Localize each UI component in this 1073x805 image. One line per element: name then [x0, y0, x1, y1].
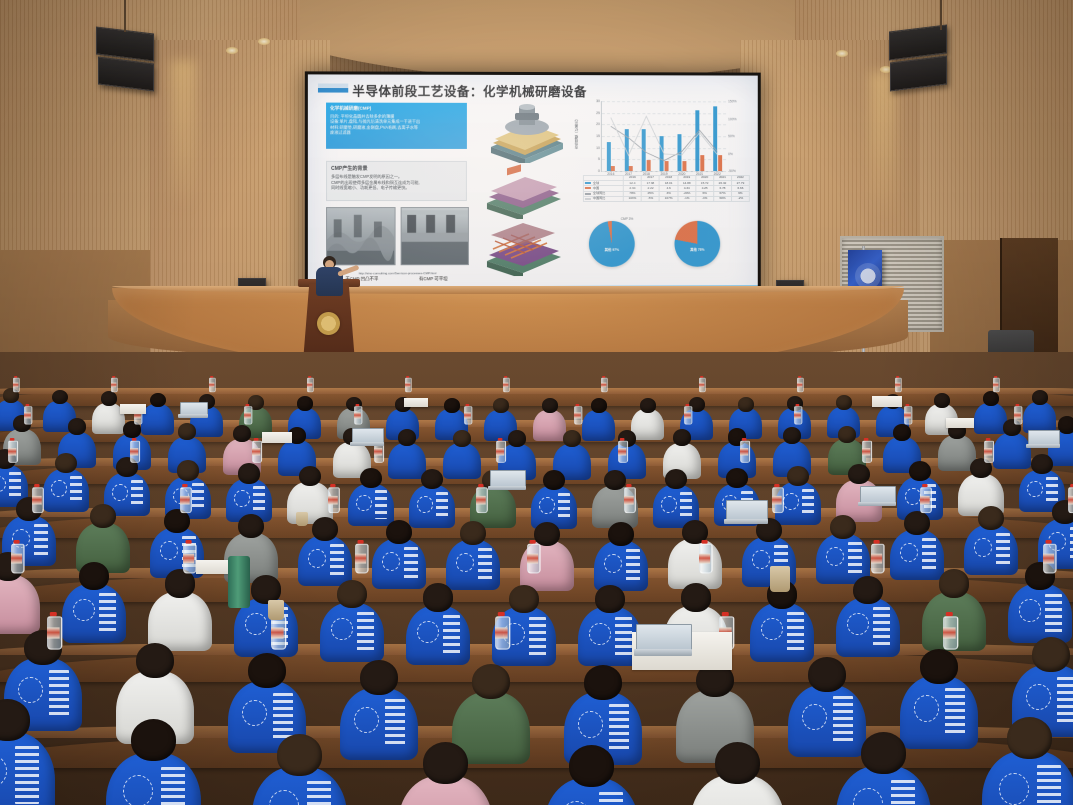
audience-head	[715, 742, 761, 784]
shirt-text-graphic	[70, 476, 82, 504]
shirt-gear-logo-icon	[73, 599, 94, 621]
chart-bar	[624, 129, 628, 171]
chart-bar	[647, 160, 651, 171]
audience-member	[982, 717, 1073, 805]
wall-wash-light	[170, 60, 196, 210]
audience-shirt	[750, 603, 814, 662]
chart-table-cell: -1%	[678, 196, 696, 201]
audience-head	[830, 515, 856, 539]
presenter	[312, 256, 348, 296]
audience-head	[248, 653, 286, 688]
shirt-gear-logo-icon	[604, 554, 622, 573]
shirt-gear-logo-icon	[0, 476, 6, 492]
paper-cup	[296, 512, 308, 526]
chart-bar-group	[607, 101, 616, 171]
shirt-gear-logo-icon	[456, 553, 474, 572]
chart-y2-tick: 0%	[728, 152, 733, 156]
wall-wash-light	[870, 72, 896, 222]
audience-head	[386, 520, 412, 544]
audience-head	[360, 660, 398, 695]
audience-head	[337, 580, 368, 608]
shirt-text-graphic	[161, 767, 186, 805]
laptop	[726, 500, 766, 524]
cmp-polisher-diagram	[477, 101, 567, 163]
audience-head	[920, 649, 958, 684]
audience-head	[165, 569, 196, 597]
chart-y2-tick: 150%	[728, 99, 737, 103]
pie-chart-cmp-share	[589, 221, 635, 267]
shirt-text-graphic	[1070, 527, 1073, 560]
audience-member	[531, 470, 577, 530]
shirt-gear-logo-icon	[123, 775, 153, 805]
shirt-gear-logo-icon	[752, 550, 770, 569]
chart-y-tick: 5	[598, 157, 600, 161]
audience-head	[543, 470, 565, 490]
paper-notebook	[404, 398, 428, 407]
audience-head	[421, 469, 443, 489]
shirt-text-graphic	[478, 548, 492, 581]
audience-head	[68, 418, 87, 435]
downlight	[226, 47, 238, 54]
audience-head	[738, 397, 754, 412]
audience-head	[101, 391, 117, 406]
speaker-cable	[124, 0, 126, 32]
chart-bar	[678, 135, 682, 172]
chart-legend-swatch	[585, 187, 591, 189]
audience-member	[0, 699, 55, 805]
audience-head	[640, 398, 656, 413]
shirt-gear-logo-icon	[999, 773, 1029, 805]
presentation-slide: 半导体前段工艺设备：化学机械研磨设备 化学机械研磨(CMP) 目的: 平坦化晶圆…	[308, 74, 758, 303]
shirt-text-graphic	[558, 493, 570, 521]
audience-head	[604, 470, 626, 490]
background-box-line: 同时线宽缩小、功耗更低、电子传输更快。	[331, 185, 462, 191]
shirt-gear-logo-icon	[578, 711, 603, 738]
audience-head	[983, 391, 999, 406]
audience-head	[978, 506, 1004, 530]
shirt-gear-logo-icon	[417, 496, 433, 512]
chart-plot-area: 051015202530-50%0%50%100%150%20162017201…	[601, 101, 726, 172]
cmp-3d-diagrams	[477, 101, 567, 276]
paper-notebook	[872, 396, 902, 407]
audience-head	[52, 390, 68, 405]
podium-emblem	[317, 312, 340, 335]
laptop	[352, 428, 382, 446]
audience-shirt	[320, 603, 384, 662]
audience-member	[544, 745, 639, 805]
chart-bar	[665, 161, 669, 171]
audience-head	[808, 657, 846, 692]
pie-main-label-right: 其他 78%	[677, 247, 717, 252]
chart-table-cell: 103%	[623, 196, 641, 201]
audience-head	[534, 522, 560, 546]
audience-head	[460, 521, 486, 545]
audience-head	[299, 466, 321, 486]
shirt-gear-logo-icon	[160, 541, 178, 560]
audience-member	[668, 520, 722, 590]
shirt-gear-logo-icon	[783, 493, 799, 509]
audience-head	[423, 742, 469, 784]
audience-head	[55, 453, 77, 473]
shirt-text-graphic	[357, 612, 374, 651]
audience-head	[233, 425, 252, 442]
audience-head	[131, 719, 177, 761]
chart-y-tick: 15	[596, 134, 600, 138]
shirt-text-graphic	[802, 489, 814, 517]
shirt-text-graphic	[529, 617, 546, 656]
shirt-text-graphic	[615, 617, 632, 656]
shirt-gear-logo-icon	[354, 707, 379, 734]
chart-bar	[682, 161, 686, 171]
shirt-gear-logo-icon	[826, 547, 844, 566]
shirt-text-graphic	[307, 781, 332, 805]
chart-series-label: 中国同比	[583, 196, 623, 201]
chart-table-cell: 60%	[714, 196, 732, 201]
chart-bar-group	[678, 101, 687, 171]
shirt-gear-logo-icon	[382, 552, 400, 571]
shirt-text-graphic	[375, 490, 387, 518]
audience-head	[595, 585, 626, 613]
audience-head	[853, 576, 884, 604]
shirt-text-graphic	[922, 538, 936, 571]
green-thermos	[228, 556, 250, 608]
shirt-gear-logo-icon	[234, 490, 250, 506]
audience-head	[136, 643, 174, 678]
chart-bar	[642, 129, 646, 171]
audience-head	[238, 514, 264, 538]
audience-head	[783, 427, 802, 444]
shirt-gear-logo-icon	[914, 695, 939, 722]
audience-head	[608, 522, 634, 546]
chart-y-tick: 20	[596, 122, 600, 126]
chart-y-tick: 25	[596, 111, 600, 115]
audience-head	[238, 463, 260, 483]
chart-y-tick: 10	[596, 146, 600, 150]
chart-legend-swatch	[585, 182, 591, 184]
shirt-gear-logo-icon	[974, 538, 992, 557]
shirt-text-graphic	[945, 688, 965, 736]
audience-head	[665, 469, 687, 489]
audience-member	[106, 719, 201, 805]
chart-data-table: 2016201720182019202020212022全球12.417.981…	[583, 175, 750, 202]
shirt-gear-logo-icon	[761, 618, 782, 640]
paper-notebook	[262, 432, 292, 443]
audience-shirt	[148, 592, 212, 651]
downlight	[836, 50, 848, 57]
shirt-text-graphic	[436, 492, 448, 520]
audience-head	[673, 429, 692, 446]
shirt-gear-logo-icon	[242, 700, 267, 727]
shirt-text-graphic	[330, 544, 344, 577]
chart-y-axis-label: 市场规模（亿美元）	[573, 117, 578, 149]
audience-head	[423, 583, 454, 611]
audience-head	[787, 466, 809, 486]
laptop	[1028, 430, 1058, 448]
cmp-background-box: CMP产生的背景 多层布线是触发CMP发明的原因之一。 CMP的出现使得多层金属…	[326, 161, 467, 201]
chart-legend-swatch	[585, 193, 591, 195]
shirt-gear-logo-icon	[802, 704, 827, 731]
audience-head	[726, 468, 748, 488]
shirt-text-graphic	[787, 612, 804, 651]
audience-member	[836, 576, 900, 659]
audience-head	[904, 511, 930, 535]
audience-member	[252, 734, 347, 805]
shirt-text-graphic	[253, 486, 265, 514]
audience-head	[453, 430, 472, 447]
chart-bar	[713, 107, 717, 172]
chart-table-cell: 107%	[660, 196, 678, 201]
audience-head	[1032, 637, 1070, 672]
audience-head	[472, 664, 510, 699]
metal-layer-diagram	[477, 163, 567, 219]
planarized-ic-image: Planarized IC	[400, 207, 469, 265]
chart-bar	[629, 166, 633, 171]
audience-head	[542, 398, 558, 413]
shirt-text-graphic	[15, 746, 40, 804]
audience-member	[320, 580, 384, 663]
audience-head	[90, 504, 116, 528]
pie-charts: CMP 3% 其他 97% 其他 78%	[579, 215, 748, 271]
audience-shirt	[0, 732, 55, 805]
shirt-gear-logo-icon	[51, 480, 67, 496]
audience-member	[406, 583, 470, 666]
paper-cup	[770, 566, 790, 592]
shirt-text-graphic	[848, 542, 862, 575]
shirt-text-graphic	[891, 780, 916, 805]
pie-slice-label-cmp: CMP 3%	[621, 217, 633, 221]
audience-head	[1007, 717, 1053, 759]
chart-bar-group	[713, 101, 722, 171]
audience-member	[446, 521, 500, 591]
pie-chart-china-share	[675, 221, 721, 267]
audience-head	[836, 395, 852, 410]
audience-head	[178, 423, 197, 440]
laptop	[180, 402, 206, 418]
chart-y2-tick: 50%	[728, 134, 735, 138]
audience-head	[838, 426, 857, 443]
audience-head	[277, 734, 323, 776]
audience-head	[1031, 454, 1053, 474]
chart-bar-group	[660, 101, 669, 171]
audience-head	[398, 429, 417, 446]
audience-shirt	[0, 575, 40, 634]
market-size-chart: 市场规模（亿美元） 051015202530-50%0%50%100%150%2…	[575, 97, 750, 207]
shirt-gear-logo-icon	[1027, 481, 1043, 497]
cmp-definition-box: 化学机械研磨(CMP) 目的: 平坦化晶圆并去除多余的薄膜 设备:单片,盘陆,与…	[326, 103, 467, 149]
audience-head	[569, 745, 615, 787]
audience-head	[297, 396, 313, 411]
audience-member	[690, 742, 785, 805]
audience-head	[909, 461, 931, 481]
chart-y2-tick: 100%	[728, 117, 737, 121]
audience-shirt	[836, 598, 900, 657]
laptop	[860, 486, 894, 506]
audience-member	[594, 522, 648, 592]
slide-title: 半导体前段工艺设备：化学机械研磨设备	[352, 81, 587, 101]
shirt-gear-logo-icon	[1019, 599, 1040, 621]
laptop	[490, 470, 524, 490]
chart-bar	[660, 136, 664, 171]
ic-sub-right: 有CMP 可平坦	[398, 276, 469, 282]
audience-shirt	[298, 536, 352, 586]
audience-member	[398, 742, 493, 805]
interconnect-stack-diagram	[477, 219, 567, 276]
audience-head	[939, 569, 970, 597]
audience-head	[444, 398, 460, 413]
audience-head	[150, 393, 166, 408]
audience-head	[861, 732, 907, 774]
audience-head	[893, 424, 912, 441]
shirt-text-graphic	[873, 607, 890, 646]
audience-shirt	[594, 541, 648, 591]
shirt-gear-logo-icon	[245, 613, 266, 635]
chart-legend-swatch	[585, 198, 591, 200]
audience-member	[298, 517, 352, 587]
chart-y2-tick: -50%	[728, 169, 736, 173]
shirt-gear-logo-icon	[356, 495, 372, 511]
lecture-hall-photo: 半导体前段工艺设备：化学机械研磨设备 化学机械研磨(CMP) 目的: 平坦化晶圆…	[0, 0, 1073, 805]
chart-table-cell: -2%	[731, 196, 749, 201]
downlight	[258, 38, 270, 45]
shirt-text-graphic	[443, 615, 460, 654]
shirt-text-graphic	[131, 480, 143, 508]
shirt-text-graphic	[9, 472, 21, 500]
audience-head	[493, 398, 509, 413]
shirt-gear-logo-icon	[417, 621, 438, 643]
audience-head	[848, 464, 870, 484]
chart-y-tick: 30	[596, 99, 600, 103]
paper-notebook	[946, 418, 974, 428]
audience-member	[1008, 562, 1072, 645]
shirt-text-graphic	[599, 792, 624, 805]
audience-head	[508, 430, 527, 447]
audience-member	[148, 569, 212, 652]
audience-head	[79, 562, 110, 590]
audience-head	[563, 430, 582, 447]
shirt-text-graphic	[626, 549, 640, 582]
chart-bar-group	[624, 101, 633, 171]
pie-main-label-left: 其他 97%	[592, 247, 632, 252]
shirt-gear-logo-icon	[112, 484, 128, 500]
shirt-gear-logo-icon	[539, 497, 555, 513]
shirt-gear-logo-icon	[1026, 684, 1051, 711]
shirt-text-graphic	[404, 547, 418, 580]
cmp-box-line: 废液过滤器	[330, 130, 463, 136]
chart-y-tick: 0	[598, 169, 600, 173]
shirt-gear-logo-icon	[308, 549, 326, 568]
chart-bar	[611, 166, 615, 171]
shirt-text-graphic	[99, 593, 116, 632]
shirt-gear-logo-icon	[561, 801, 591, 805]
audience-head	[591, 398, 607, 413]
chart-bar-group	[642, 101, 651, 171]
cmp-box-heading: 化学机械研磨(CMP)	[330, 106, 463, 112]
shirt-gear-logo-icon	[661, 496, 677, 512]
audience-shirt	[406, 606, 470, 665]
audience-head	[584, 665, 622, 700]
shirt-gear-logo-icon	[853, 788, 883, 805]
chart-bar	[607, 142, 611, 171]
shirt-text-graphic	[680, 492, 692, 520]
audience-head	[1032, 390, 1048, 405]
projection-screen: 半导体前段工艺设备：化学机械研磨设备 化学机械研磨(CMP) 目的: 平坦化晶圆…	[305, 71, 761, 306]
shirt-gear-logo-icon	[900, 543, 918, 562]
shirt-gear-logo-icon	[0, 755, 7, 787]
shirt-text-graphic	[385, 699, 405, 747]
paper-notebook	[120, 404, 146, 414]
chart-bar	[718, 156, 722, 171]
audience-shirt	[1008, 584, 1072, 643]
audience-member	[836, 732, 931, 805]
background-box-heading: CMP产生的背景	[331, 165, 462, 172]
title-accent-bar	[318, 83, 348, 92]
shirt-gear-logo-icon	[331, 618, 352, 640]
audience-head	[312, 517, 338, 541]
audience-head	[934, 393, 950, 408]
chart-bar-group	[695, 101, 704, 171]
shirt-text-graphic	[1045, 594, 1062, 633]
speaker-cable	[940, 0, 942, 30]
chart-table-cell: -5%	[642, 196, 660, 201]
audience-head	[360, 468, 382, 488]
audience-shirt	[668, 539, 722, 589]
shirt-gear-logo-icon	[269, 790, 299, 805]
chart-table-row: 中国同比103%-5%107%-1%-4%60%-2%	[583, 196, 749, 201]
shirt-gear-logo-icon	[847, 613, 868, 635]
laptop	[636, 624, 690, 656]
chart-bar	[700, 155, 704, 171]
paper-cup	[268, 600, 284, 620]
audience-member	[348, 468, 394, 528]
chart-table-cell: -4%	[696, 196, 714, 201]
shirt-gear-logo-icon	[905, 488, 921, 504]
shirt-text-graphic	[1037, 765, 1062, 805]
audience-head	[681, 583, 712, 611]
chart-bar	[695, 110, 699, 171]
audience-member	[750, 580, 814, 663]
audience-head	[509, 585, 540, 613]
audience-head	[177, 460, 199, 480]
shirt-text-graphic	[192, 483, 204, 511]
shirt-gear-logo-icon	[589, 623, 610, 645]
